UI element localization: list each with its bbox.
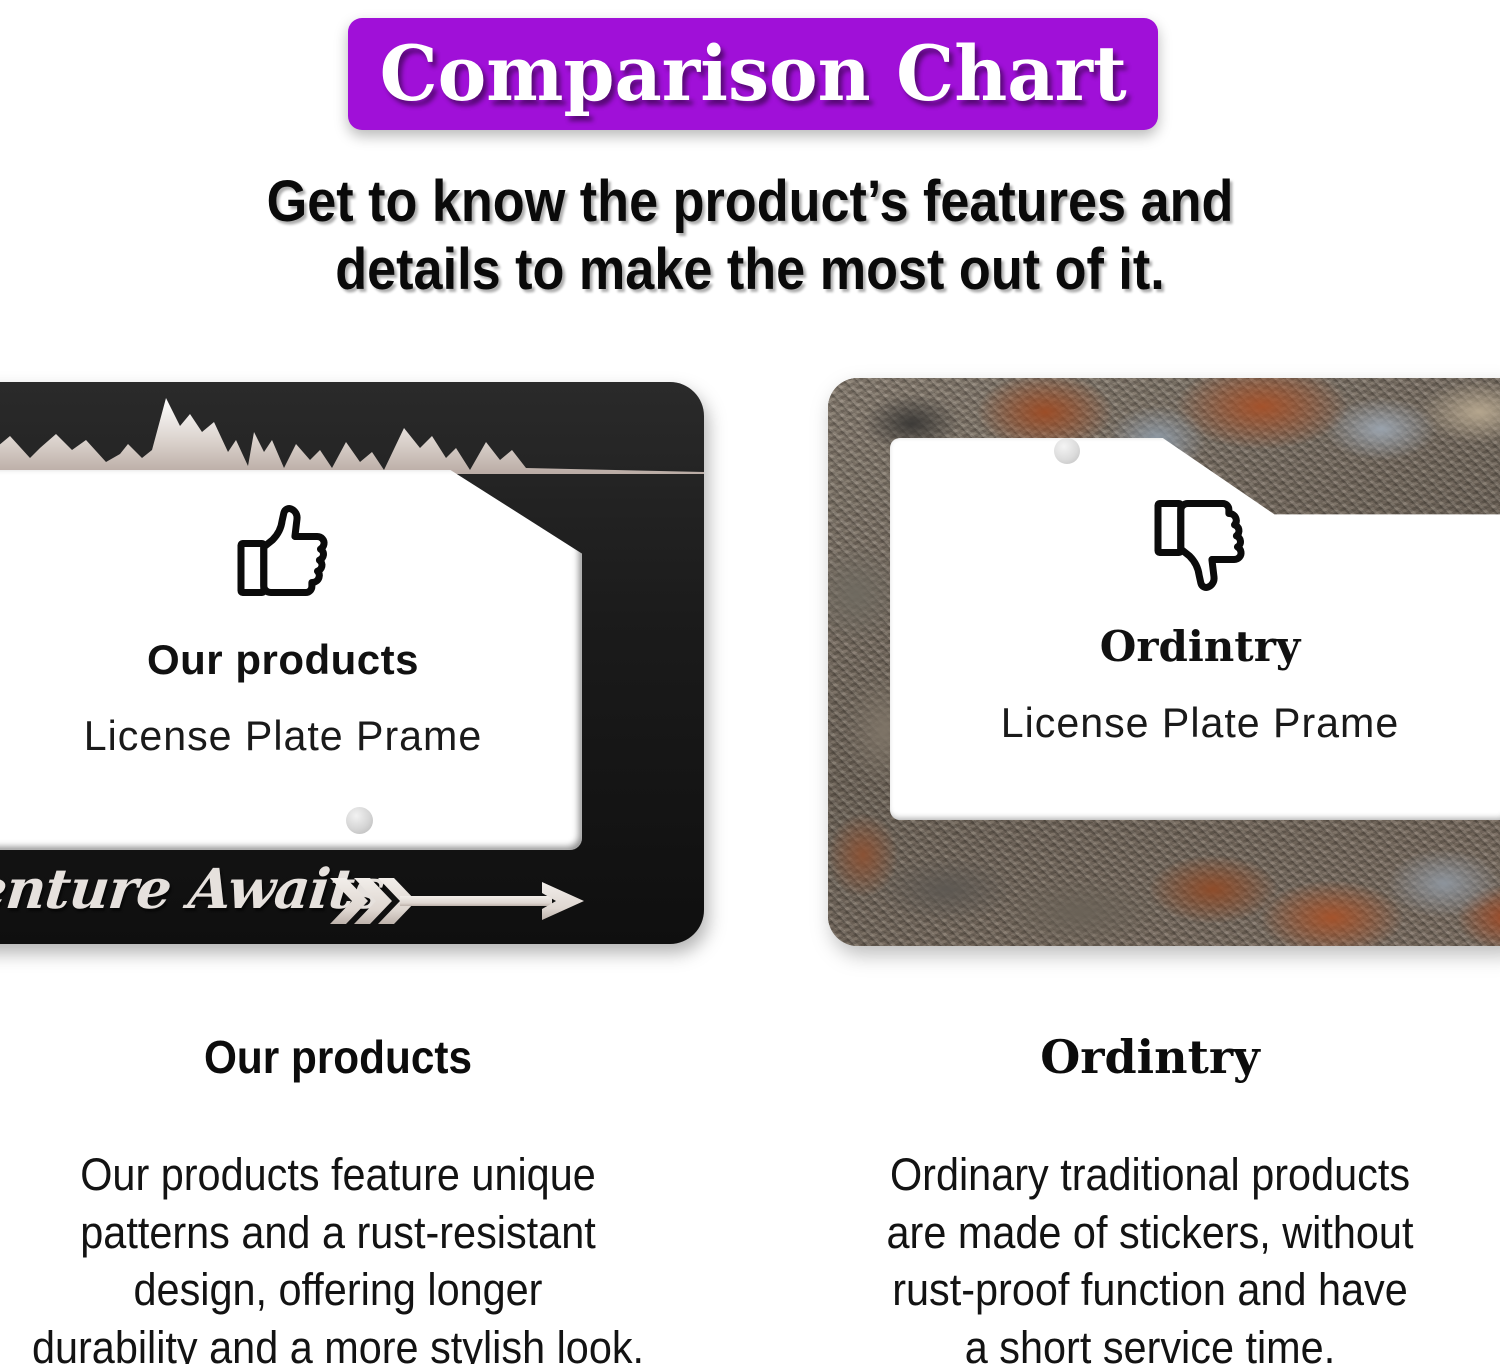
title-banner: Comparison Chart — [348, 18, 1158, 130]
adventure-awaits-band: dventure Awaits — [0, 850, 704, 944]
subtitle-line-1: Get to know the product’s features and — [75, 168, 1425, 236]
right-description-heading: Ordintry — [800, 1030, 1500, 1084]
left-desc-line-1: Our products feature unique — [16, 1146, 660, 1204]
mountain-range-icon — [0, 388, 704, 474]
left-product-label: Our products — [0, 636, 582, 684]
right-desc-line-1: Ordinary traditional products — [828, 1146, 1472, 1204]
right-product-label: Ordintry — [890, 622, 1500, 671]
left-description-body: Our products feature unique patterns and… — [16, 1146, 660, 1364]
thumbs-up-icon — [227, 498, 339, 610]
left-desc-line-4: durability and a more stylish look. — [16, 1319, 660, 1364]
bolt-hole-left — [346, 807, 373, 834]
right-desc-line-2: are made of stickers, without — [828, 1204, 1472, 1262]
left-description-heading: Our products — [16, 1030, 660, 1084]
page-subtitle: Get to know the product’s features and d… — [75, 168, 1425, 305]
ordintry-description-column: Ordintry Ordinary traditional products a… — [800, 1030, 1500, 1364]
arrow-right-icon — [328, 870, 588, 932]
right-desc-line-4: a short service time. — [828, 1319, 1472, 1364]
left-desc-line-3: design, offering longer — [16, 1261, 660, 1319]
right-description-body: Ordinary traditional products are made o… — [828, 1146, 1472, 1364]
left-frame-content: Our products License Plate Prame — [0, 498, 582, 760]
bolt-hole-right — [1054, 438, 1080, 464]
thumbs-down-icon — [1144, 486, 1256, 598]
ordinary-product-license-plate-frame: Ordintry License Plate Prame — [828, 378, 1500, 946]
right-product-subtitle: License Plate Prame — [896, 699, 1500, 747]
our-products-description-column: Our products Our products feature unique… — [0, 1030, 688, 1364]
page-title: Comparison Chart — [379, 36, 1126, 112]
left-product-subtitle: License Plate Prame — [0, 712, 576, 760]
right-frame-content: Ordintry License Plate Prame — [890, 486, 1500, 747]
comparison-chart-page: Comparison Chart Get to know the product… — [0, 0, 1500, 1364]
right-desc-line-3: rust-proof function and have — [828, 1261, 1472, 1319]
our-product-license-plate-frame: Our products License Plate Prame dventur… — [0, 382, 704, 944]
subtitle-line-2: details to make the most out of it. — [75, 236, 1425, 304]
left-desc-line-2: patterns and a rust-resistant — [16, 1204, 660, 1262]
